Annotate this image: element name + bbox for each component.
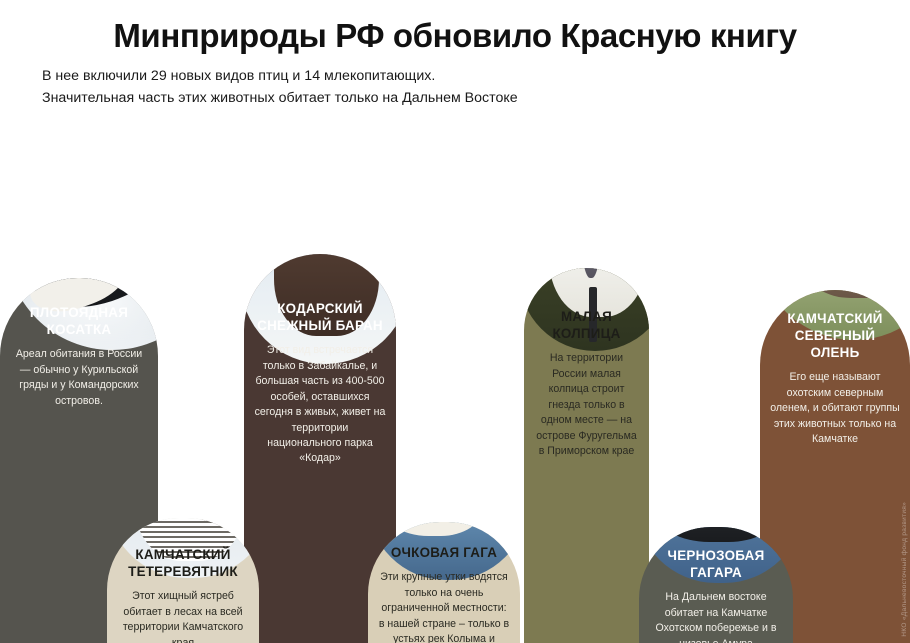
species-text-loon: ЧЕРНОЗОБАЯ ГАГАРА На Дальнем востоке оби… xyxy=(639,547,793,643)
infographic-root: Минприроды РФ обновило Красную книгу В н… xyxy=(0,0,910,643)
species-name-orca: ПЛОТОЯДНАЯ КОСАТКА xyxy=(10,304,148,338)
species-description-reindeer: Его еще называют охотским северным олене… xyxy=(770,370,900,447)
reindeer-body-shape xyxy=(806,290,910,298)
species-description-loon: На Дальнем востоке обитает на Камчатке О… xyxy=(649,590,783,643)
species-card-spoonbill[interactable]: МАЛАЯ КОЛПИЦА На территории России малая… xyxy=(524,268,649,643)
species-name-spoonbill: МАЛАЯ КОЛПИЦА xyxy=(534,308,639,342)
eider-body-shape xyxy=(378,522,484,536)
header: Минприроды РФ обновило Красную книгу В н… xyxy=(0,0,910,109)
species-name-loon: ЧЕРНОЗОБАЯ ГАГАРА xyxy=(649,547,783,581)
species-text-orca: ПЛОТОЯДНАЯ КОСАТКА Ареал обитания в Росс… xyxy=(0,304,158,409)
species-card-eider[interactable]: ОЧКОВАЯ ГАГА Эти крупные утки водятся то… xyxy=(368,522,520,643)
species-description-snow-sheep: Этот вид встречается только в Забайкалье… xyxy=(254,343,386,467)
page-title: Минприроды РФ обновило Красную книгу xyxy=(40,18,870,55)
species-description-orca: Ареал обитания в России — обычно у Курил… xyxy=(10,347,148,409)
subtitle-line-2: Значительная часть этих животных обитает… xyxy=(42,88,870,110)
species-text-spoonbill: МАЛАЯ КОЛПИЦА На территории России малая… xyxy=(524,308,649,459)
species-text-eider: ОЧКОВАЯ ГАГА Эти крупные утки водятся то… xyxy=(368,544,520,643)
species-text-goshawk: КАМЧАТСКИЙ ТЕТЕРЕВЯТНИК Этот хищный ястр… xyxy=(107,546,259,643)
species-card-goshawk[interactable]: КАМЧАТСКИЙ ТЕТЕРЕВЯТНИК Этот хищный ястр… xyxy=(107,518,259,643)
species-name-reindeer: КАМЧАТСКИЙ СЕВЕРНЫЙ ОЛЕНЬ xyxy=(770,310,900,361)
page-subtitle: В нее включили 29 новых видов птиц и 14 … xyxy=(40,66,870,109)
species-card-loon[interactable]: ЧЕРНОЗОБАЯ ГАГАРА На Дальнем востоке оби… xyxy=(639,527,793,643)
loon-body-shape xyxy=(656,527,777,542)
species-name-goshawk: КАМЧАТСКИЙ ТЕТЕРЕВЯТНИК xyxy=(117,546,249,580)
species-name-snow-sheep: КОДАРСКИЙ СНЕЖНЫЙ БАРАН xyxy=(254,300,386,334)
species-description-spoonbill: На территории России малая колпица строи… xyxy=(534,351,639,459)
species-text-reindeer: КАМЧАТСКИЙ СЕВЕРНЫЙ ОЛЕНЬ Его еще называ… xyxy=(760,310,910,448)
subtitle-line-1: В нее включили 29 новых видов птиц и 14 … xyxy=(42,66,870,88)
species-name-eider: ОЧКОВАЯ ГАГА xyxy=(378,544,510,561)
species-text-snow-sheep: КОДАРСКИЙ СНЕЖНЫЙ БАРАН Этот вид встреча… xyxy=(244,300,396,467)
species-description-goshawk: Этот хищный ястреб обитает в лесах на вс… xyxy=(117,589,249,643)
watermark-credit: НКО «Дальневосточный фонд развития» xyxy=(901,502,908,637)
species-description-eider: Эти крупные утки водятся только на очень… xyxy=(378,570,510,643)
